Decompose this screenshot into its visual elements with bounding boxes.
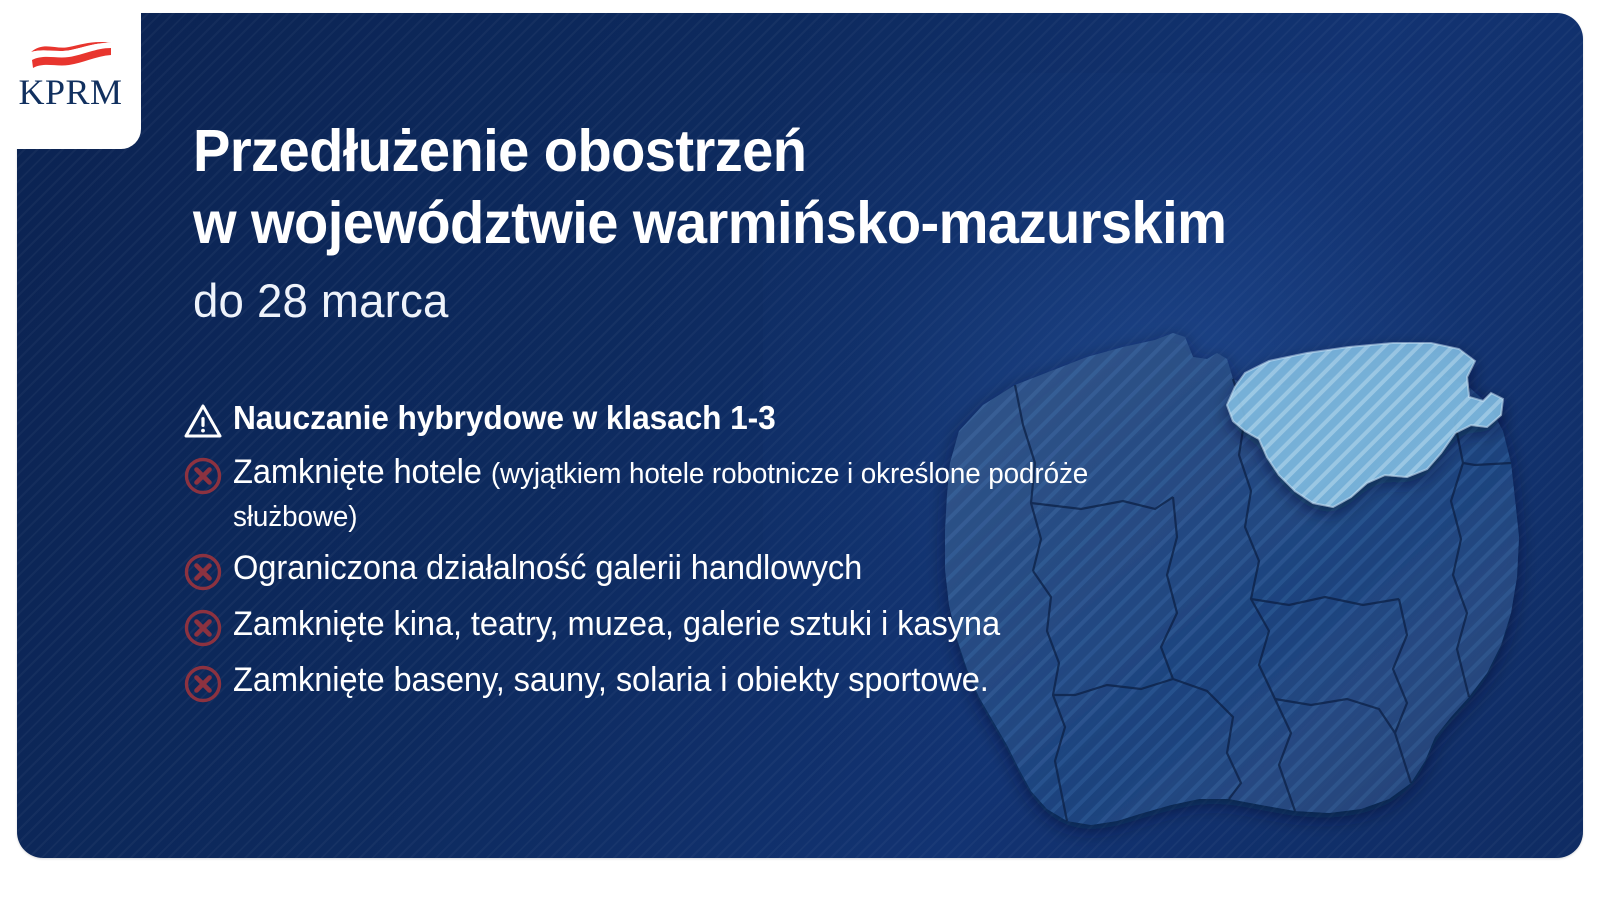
- list-item: Zamknięte hotele (wyjątkiem hotele robot…: [177, 450, 1217, 536]
- page-title: Przedłużenie obostrzeń w województwie wa…: [193, 116, 1428, 260]
- list-item: Ograniczona działalność galerii handlowy…: [177, 546, 1217, 592]
- list-item-label: Zamknięte kina, teatry, muzea, galerie s…: [233, 602, 1000, 646]
- list-item-main-text: Zamknięte hotele: [233, 453, 491, 491]
- x-mark-circle-icon: [177, 546, 233, 592]
- highlighted-region-warminsko-mazurskie: [1227, 343, 1503, 507]
- list-item-label: Zamknięte baseny, sauny, solaria i obiek…: [233, 658, 989, 702]
- list-item-label: Nauczanie hybrydowe w klasach 1-3: [233, 396, 776, 438]
- list-item: Zamknięte baseny, sauny, solaria i obiek…: [177, 658, 1217, 704]
- list-item: Nauczanie hybrydowe w klasach 1-3: [177, 396, 1217, 440]
- polish-flag-wave-icon: [28, 39, 114, 73]
- list-item-label: Ograniczona działalność galerii handlowy…: [233, 546, 862, 590]
- infographic-card: Przedłużenie obostrzeń w województwie wa…: [17, 13, 1583, 858]
- x-mark-circle-icon: [177, 450, 233, 496]
- x-mark-circle-icon: [177, 658, 233, 704]
- warning-triangle-icon: [177, 396, 233, 440]
- kprm-wordmark: KPRM: [18, 74, 122, 110]
- kprm-logo: KPRM: [0, 0, 141, 149]
- x-mark-circle-icon: [177, 602, 233, 648]
- content-column: Przedłużenie obostrzeń w województwie wa…: [177, 13, 1237, 858]
- list-item-label: Zamknięte hotele (wyjątkiem hotele robot…: [233, 450, 1178, 536]
- restrictions-list: Nauczanie hybrydowe w klasach 1-3 Zamkni…: [177, 396, 1217, 714]
- page-subtitle: do 28 marca: [193, 275, 449, 327]
- list-item: Zamknięte kina, teatry, muzea, galerie s…: [177, 602, 1217, 648]
